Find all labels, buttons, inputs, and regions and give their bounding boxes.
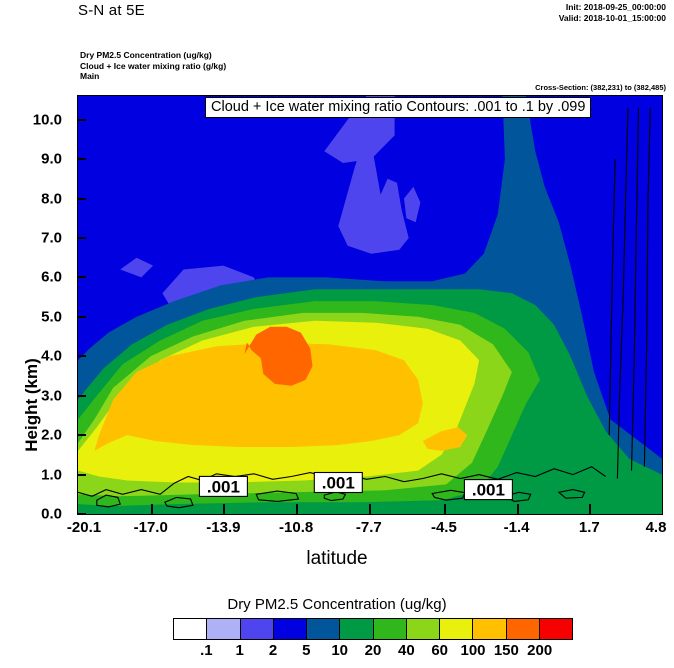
colorbar-labels: .112510204060100150200	[173, 642, 573, 664]
field-description-block: Dry PM2.5 Concentration (ug/kg) Cloud + …	[80, 50, 226, 82]
x-tick-label: -1.4	[504, 519, 530, 536]
colorbar-swatch	[340, 619, 373, 639]
x-tick-label: -17.0	[134, 519, 168, 536]
contour-value-label: .001	[207, 477, 240, 496]
colorbar-swatch	[473, 619, 506, 639]
colorbar-swatch	[274, 619, 307, 639]
colorbar-swatch	[374, 619, 407, 639]
colorbar-swatch	[407, 619, 440, 639]
valid-time: Valid: 2018-10-01_15:00:00	[559, 13, 666, 24]
colorbar-tick-label: 100	[460, 642, 485, 659]
colorbar-swatch	[207, 619, 240, 639]
field-line-shaded: Dry PM2.5 Concentration (ug/kg)	[80, 50, 226, 61]
colorbar-tick-label: 200	[527, 642, 552, 659]
x-tick-mark	[369, 504, 371, 514]
y-tick-mark	[77, 474, 86, 476]
colorbar-tick-label: 10	[331, 642, 348, 659]
y-tick-mark	[77, 198, 86, 200]
x-tick-label: 4.8	[646, 519, 667, 536]
y-tick-label: 5.0	[41, 308, 62, 325]
colorbar	[173, 618, 573, 640]
colorbar-tick-label: 40	[398, 642, 415, 659]
pm25-cross-section-field: .001.001.001	[78, 96, 662, 514]
colorbar-tick-label: 150	[494, 642, 519, 659]
y-tick-label: 6.0	[41, 269, 62, 286]
x-axis-label: latitude	[0, 548, 674, 570]
y-tick-mark	[77, 355, 86, 357]
colorbar-tick-label: 60	[431, 642, 448, 659]
x-tick-label: -20.1	[67, 519, 101, 536]
y-tick-label: 4.0	[41, 348, 62, 365]
x-tick-label: -10.8	[279, 519, 313, 536]
field-line-domain: Main	[80, 71, 226, 82]
contour-value-label: .001	[322, 474, 355, 493]
colorbar-tick-label: 2	[269, 642, 277, 659]
x-tick-label: -13.9	[206, 519, 240, 536]
y-tick-label: 7.0	[41, 229, 62, 246]
y-axis: Height (km) 0.01.02.03.04.05.06.07.08.09…	[0, 95, 70, 515]
colorbar-tick-label: 5	[302, 642, 310, 659]
init-time: Init: 2018-09-25_00:00:00	[559, 2, 666, 13]
y-axis-label: Height (km)	[22, 295, 42, 515]
y-tick-label: 2.0	[41, 427, 62, 444]
y-tick-label: 1.0	[41, 466, 62, 483]
colorbar-swatch	[507, 619, 540, 639]
colorbar-tick-label: 1	[235, 642, 243, 659]
colorbar-tick-label: 20	[365, 642, 382, 659]
colorbar-swatch	[241, 619, 274, 639]
contour-plot-area: .001.001.001	[77, 95, 663, 515]
cross-section-endpoints: Cross-Section: (382,231) to (382,485)	[535, 83, 666, 92]
y-tick-mark	[77, 237, 86, 239]
y-tick-label: 9.0	[41, 151, 62, 168]
x-axis: -20.1-17.0-13.9-10.8-7.7-4.5-1.41.74.8	[0, 517, 674, 543]
y-tick-label: 10.0	[33, 111, 62, 128]
colorbar-swatch	[307, 619, 340, 639]
colorbar-title: Dry PM2.5 Concentration (ug/kg)	[0, 596, 674, 613]
y-tick-label: 3.0	[41, 387, 62, 404]
y-tick-mark	[77, 395, 86, 397]
y-tick-label: 8.0	[41, 190, 62, 207]
colorbar-swatch	[440, 619, 473, 639]
x-tick-label: -7.7	[356, 519, 382, 536]
y-tick-mark	[77, 513, 86, 515]
y-tick-mark	[77, 434, 86, 436]
field-line-contour: Cloud + Ice water mixing ratio (g/kg)	[80, 61, 226, 72]
x-tick-label: -4.5	[431, 519, 457, 536]
x-tick-label: 1.7	[579, 519, 600, 536]
y-tick-mark	[77, 119, 86, 121]
x-tick-mark	[517, 504, 519, 514]
y-tick-mark	[77, 316, 86, 318]
x-tick-mark	[296, 504, 298, 514]
y-tick-mark	[77, 158, 86, 160]
x-tick-mark	[444, 504, 446, 514]
x-tick-mark	[151, 504, 153, 514]
colorbar-swatch	[540, 619, 572, 639]
contour-legend-title: Cloud + Ice water mixing ratio Contours:…	[205, 97, 591, 118]
x-tick-mark	[589, 504, 591, 514]
colorbar-swatch	[174, 619, 207, 639]
contour-value-label: .001	[472, 481, 505, 500]
colorbar-tick-label: .1	[200, 642, 213, 659]
page-title: S-N at 5E	[78, 2, 145, 19]
run-time-block: Init: 2018-09-25_00:00:00 Valid: 2018-10…	[559, 2, 666, 24]
y-tick-mark	[77, 276, 86, 278]
x-tick-mark	[223, 504, 225, 514]
